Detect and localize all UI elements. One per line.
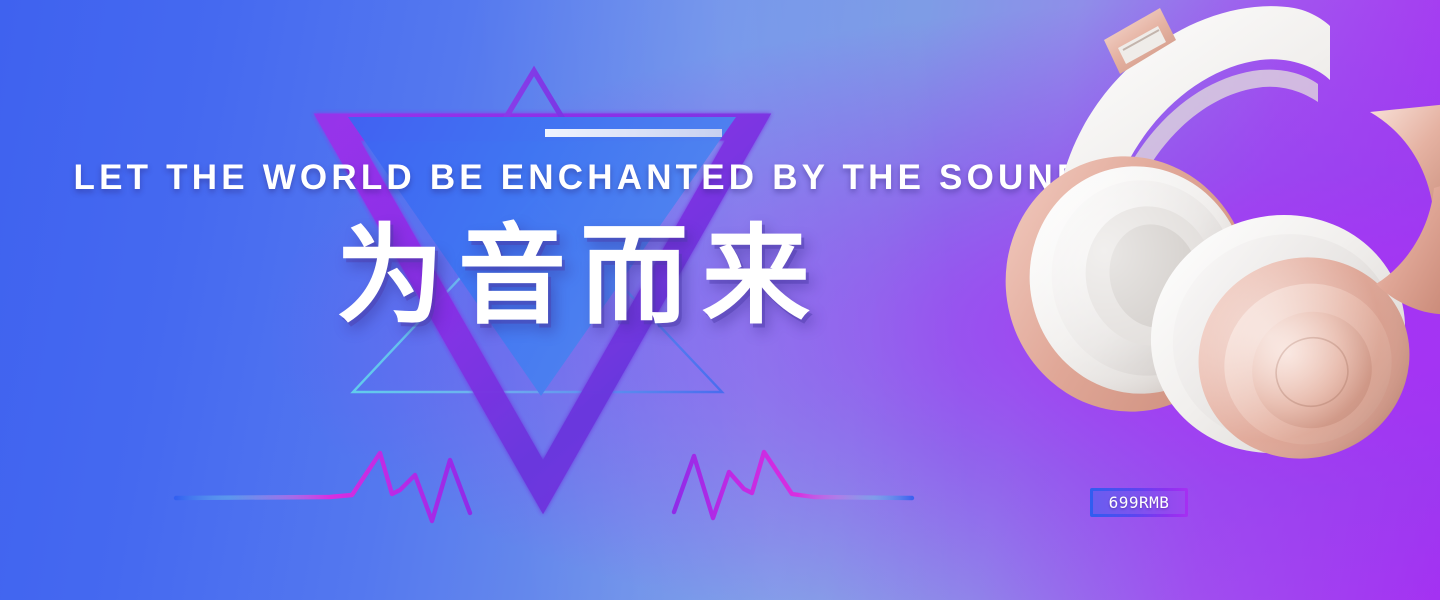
waveform-left (176, 453, 470, 521)
promo-banner: LET THE WORLD BE ENCHANTED BY THE SOUND … (0, 0, 1440, 600)
price-label: 699RMB (1109, 493, 1170, 512)
right-earcup-arm (1370, 104, 1440, 220)
triangle-apex-mark (502, 71, 566, 124)
price-badge[interactable]: 699RMB (1090, 488, 1188, 517)
accent-bar (545, 129, 722, 137)
price-badge-inner: 699RMB (1093, 491, 1185, 514)
product-headphones-image (978, 0, 1440, 474)
waveform-right (674, 452, 912, 518)
headphones-group (979, 6, 1440, 474)
